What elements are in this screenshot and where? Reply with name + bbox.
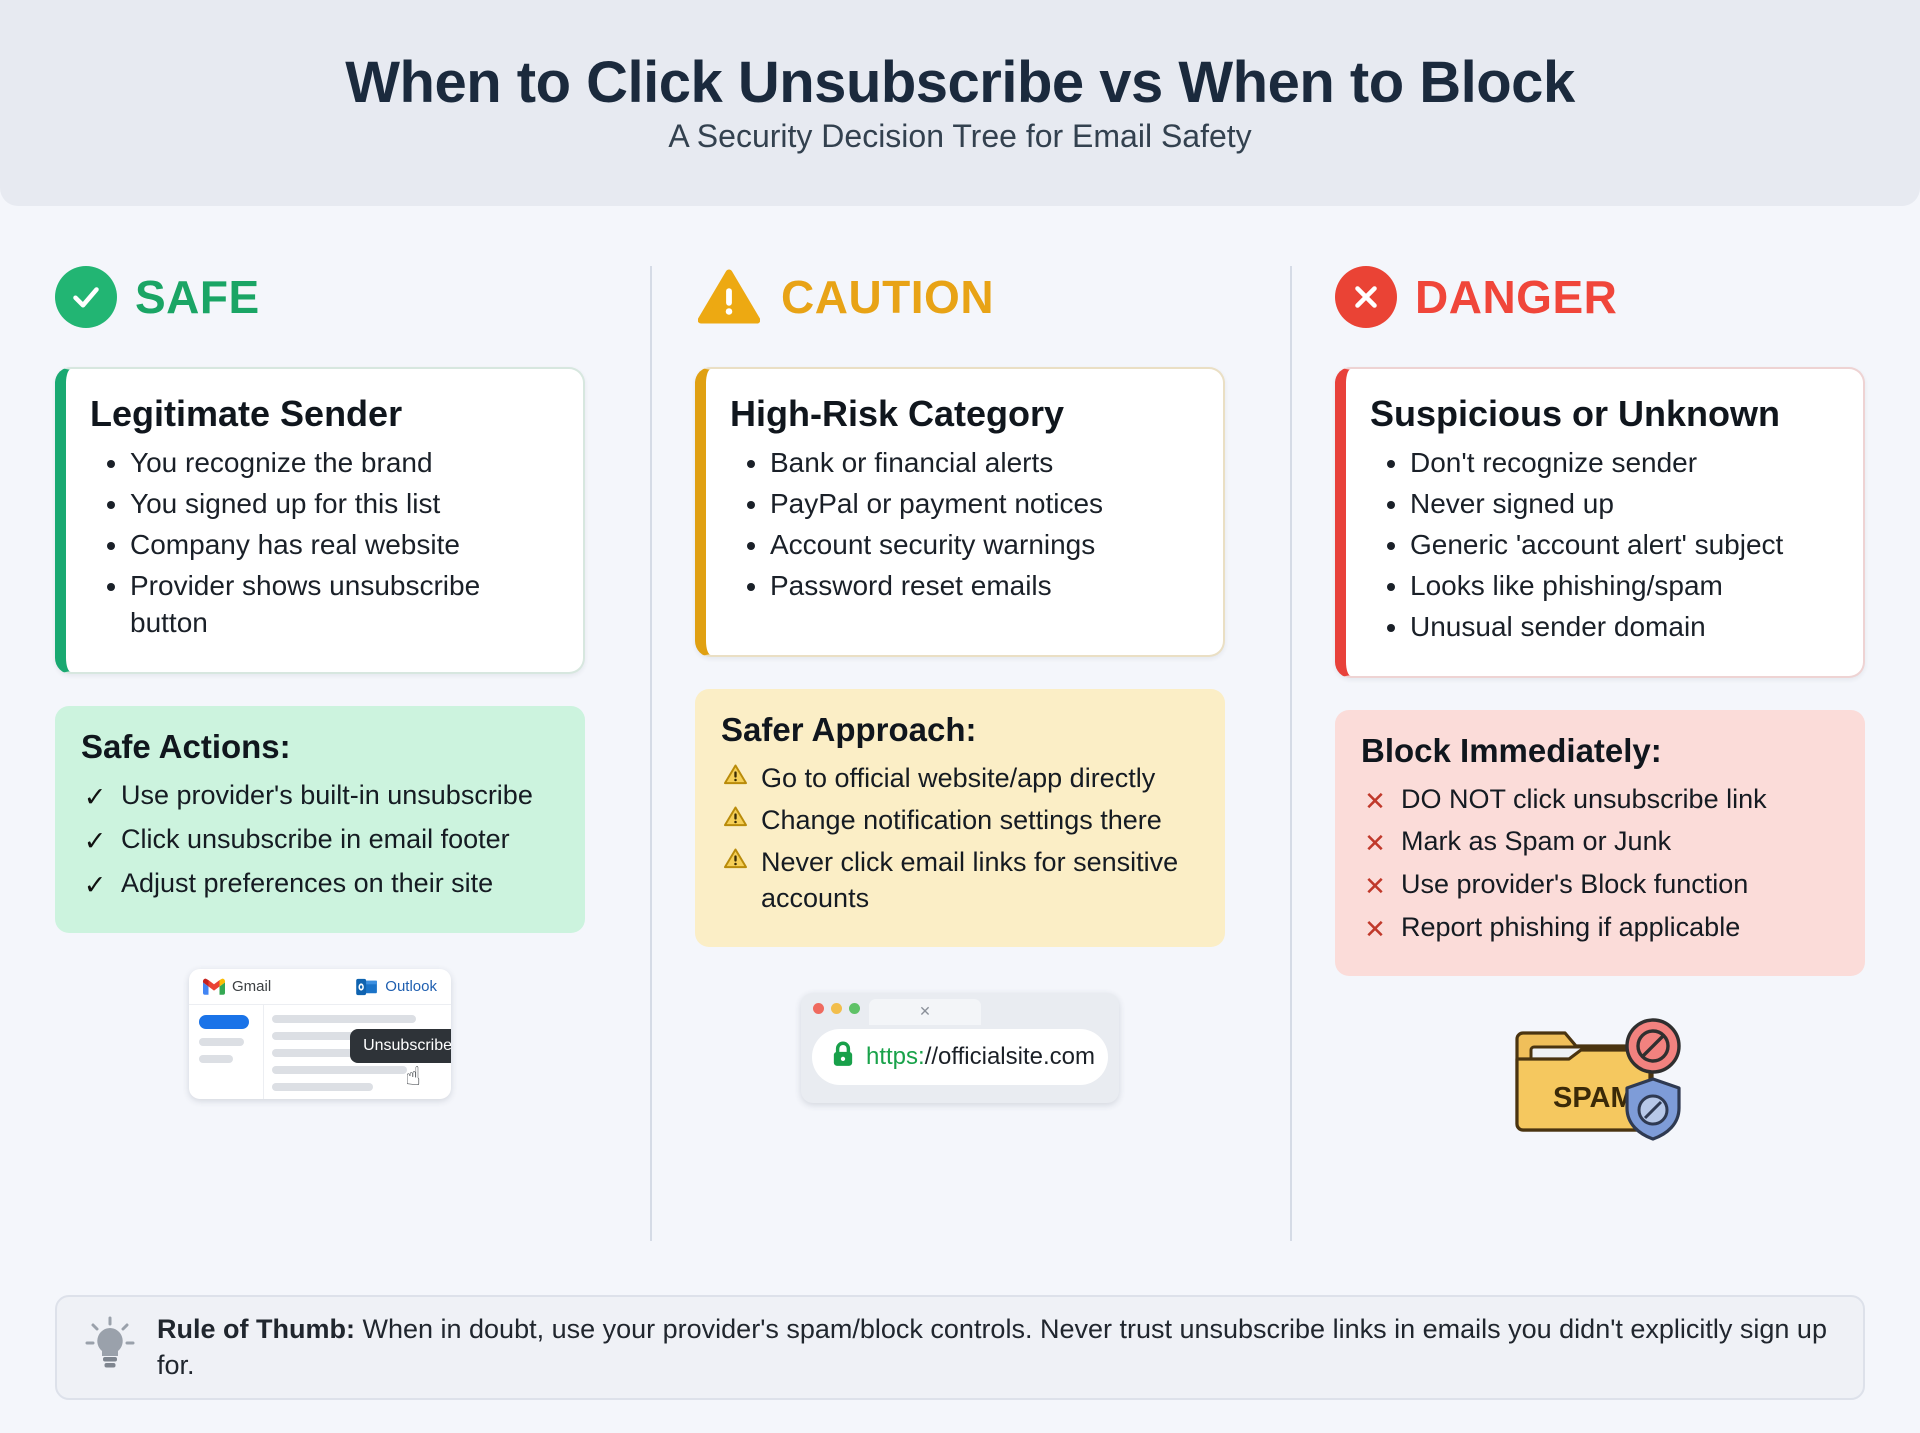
email-row-placeholder [272, 1083, 373, 1091]
outlook-brand: Outlook [356, 978, 437, 996]
illustration-danger: SPAM [1335, 1002, 1865, 1152]
unsubscribe-tooltip[interactable]: Unsubscribe [350, 1029, 451, 1063]
list-item: Password reset emails [770, 568, 1197, 605]
window-close-icon[interactable] [813, 1003, 824, 1014]
close-icon[interactable]: ✕ [919, 1003, 931, 1020]
criteria-list: Bank or financial alerts PayPal or payme… [730, 445, 1197, 605]
status-header-danger: DANGER [1335, 261, 1865, 333]
check-mark-icon: ✓ [81, 866, 109, 904]
list-item-label: Adjust preferences on their site [121, 866, 493, 902]
criteria-card-caution: High-Risk Category Bank or financial ale… [695, 367, 1225, 657]
warning-triangle-icon [721, 761, 749, 786]
warning-triangle-icon [695, 266, 763, 328]
list-item: PayPal or payment notices [770, 486, 1197, 523]
list-item: ✕ Mark as Spam or Junk [1361, 824, 1841, 861]
list-item: ✕ DO NOT click unsubscribe link [1361, 782, 1841, 819]
browser-titlebar: ✕ [801, 993, 1119, 1025]
email-client-brands: Gmail Outlook [189, 969, 451, 1005]
list-item: Looks like phishing/spam [1410, 568, 1837, 605]
list-item: ✓ Click unsubscribe in email footer [81, 822, 561, 860]
window-maximize-icon[interactable] [849, 1003, 860, 1014]
lightbulb-icon [85, 1316, 135, 1379]
column-danger: DANGER Suspicious or Unknown Don't recog… [1280, 206, 1920, 1276]
column-safe: SAFE Legitimate Sender You recognize the… [0, 206, 640, 1276]
sidebar-placeholder [199, 1055, 233, 1063]
email-row-placeholder [272, 1015, 416, 1023]
email-client-mock: Gmail Outlook [189, 969, 451, 1099]
list-item: ✕ Use provider's Block function [1361, 867, 1841, 904]
url-text: https://officialsite.com [866, 1043, 1095, 1071]
x-mark-icon: ✕ [1361, 910, 1389, 947]
list-item: ✓ Adjust preferences on their site [81, 866, 561, 904]
criteria-card-title: Legitimate Sender [90, 393, 557, 435]
outlook-icon [356, 978, 378, 996]
actions-panel-title: Safer Approach: [721, 711, 1201, 749]
rule-of-thumb-label: Rule of Thumb: [157, 1314, 355, 1344]
email-row-placeholder [272, 1066, 407, 1074]
status-header-caution: CAUTION [695, 261, 1225, 333]
rule-of-thumb-body: When in doubt, use your provider's spam/… [157, 1314, 1827, 1379]
actions-panel-title: Block Immediately: [1361, 732, 1841, 770]
illustration-caution: ✕ https://officialsite.com [695, 973, 1225, 1123]
criteria-card-title: Suspicious or Unknown [1370, 393, 1837, 435]
list-item: You recognize the brand [130, 445, 557, 482]
status-label-danger: DANGER [1415, 270, 1617, 324]
list-item: Company has real website [130, 527, 557, 564]
actions-panel-danger: Block Immediately: ✕ DO NOT click unsubs… [1335, 710, 1865, 976]
list-item: Unusual sender domain [1410, 609, 1837, 646]
list-item-label: Go to official website/app directly [761, 761, 1155, 797]
list-item: Go to official website/app directly [721, 761, 1201, 797]
url-host: //officialsite.com [925, 1043, 1095, 1070]
svg-text:SPAM: SPAM [1553, 1082, 1635, 1114]
list-item-label: Never click email links for sensitive ac… [761, 845, 1201, 917]
address-bar[interactable]: https://officialsite.com [812, 1029, 1108, 1085]
list-item: Account security warnings [770, 527, 1197, 564]
columns-container: SAFE Legitimate Sender You recognize the… [0, 206, 1920, 1276]
actions-list: ✕ DO NOT click unsubscribe link ✕ Mark a… [1361, 782, 1841, 946]
x-circle-icon [1335, 266, 1397, 328]
criteria-list: You recognize the brand You signed up fo… [90, 445, 557, 642]
criteria-card-title: High-Risk Category [730, 393, 1197, 435]
actions-panel-safe: Safe Actions: ✓ Use provider's built-in … [55, 706, 585, 934]
page-title: When to Click Unsubscribe vs When to Blo… [345, 51, 1574, 115]
list-item: Don't recognize sender [1410, 445, 1837, 482]
list-item: Never signed up [1410, 486, 1837, 523]
infographic-root: When to Click Unsubscribe vs When to Blo… [0, 0, 1920, 1433]
header: When to Click Unsubscribe vs When to Blo… [0, 0, 1920, 206]
url-scheme: https: [866, 1043, 925, 1070]
criteria-card-danger: Suspicious or Unknown Don't recognize se… [1335, 367, 1865, 678]
check-circle-icon [55, 266, 117, 328]
list-item-label: Mark as Spam or Junk [1401, 824, 1671, 860]
outlook-label: Outlook [385, 978, 437, 995]
warning-triangle-icon [721, 845, 749, 870]
x-mark-icon: ✕ [1361, 824, 1389, 861]
list-item: Never click email links for sensitive ac… [721, 845, 1201, 917]
list-item-label: Change notification settings there [761, 803, 1162, 839]
status-header-safe: SAFE [55, 261, 585, 333]
page-subtitle: A Security Decision Tree for Email Safet… [668, 118, 1251, 155]
criteria-list: Don't recognize sender Never signed up G… [1370, 445, 1837, 646]
criteria-card-safe: Legitimate Sender You recognize the bran… [55, 367, 585, 674]
actions-panel-title: Safe Actions: [81, 728, 561, 766]
column-caution: CAUTION High-Risk Category Bank or finan… [640, 206, 1280, 1276]
list-item: ✕ Report phishing if applicable [1361, 910, 1841, 947]
gmail-brand: Gmail [203, 978, 271, 995]
actions-list: ✓ Use provider's built-in unsubscribe ✓ … [81, 778, 561, 904]
rule-of-thumb-banner: Rule of Thumb: When in doubt, use your p… [55, 1295, 1865, 1400]
check-mark-icon: ✓ [81, 822, 109, 860]
spam-folder-blocked-icon: SPAM [1505, 1007, 1695, 1147]
illustration-safe: Gmail Outlook [55, 959, 585, 1109]
lock-icon [830, 1040, 856, 1073]
gmail-label: Gmail [232, 978, 271, 995]
list-item: Change notification settings there [721, 803, 1201, 839]
email-sidebar [189, 1005, 263, 1099]
list-item: You signed up for this list [130, 486, 557, 523]
actions-list: Go to official website/app directly Chan… [721, 761, 1201, 917]
browser-address-bar-mock: ✕ https://officialsite.com [801, 993, 1119, 1103]
sidebar-placeholder [199, 1038, 244, 1046]
list-item: ✓ Use provider's built-in unsubscribe [81, 778, 561, 816]
list-item-label: Use provider's built-in unsubscribe [121, 778, 533, 814]
list-item-label: Report phishing if applicable [1401, 910, 1740, 946]
x-mark-icon: ✕ [1361, 867, 1389, 904]
list-item-label: Use provider's Block function [1401, 867, 1748, 903]
warning-triangle-icon [721, 803, 749, 828]
status-label-safe: SAFE [135, 270, 260, 324]
gmail-icon [203, 978, 225, 995]
list-item-label: DO NOT click unsubscribe link [1401, 782, 1767, 818]
list-item: Provider shows unsubscribe button [130, 568, 557, 642]
actions-panel-caution: Safer Approach: Go to official website/a… [695, 689, 1225, 947]
window-minimize-icon[interactable] [831, 1003, 842, 1014]
list-item-label: Click unsubscribe in email footer [121, 822, 510, 858]
list-item: Bank or financial alerts [770, 445, 1197, 482]
check-mark-icon: ✓ [81, 778, 109, 816]
cursor-pointer-icon: ☝ [405, 1061, 421, 1092]
browser-tab[interactable]: ✕ [869, 999, 981, 1025]
x-mark-icon: ✕ [1361, 782, 1389, 819]
list-item: Generic 'account alert' subject [1410, 527, 1837, 564]
compose-button[interactable] [199, 1015, 249, 1029]
rule-of-thumb-text: Rule of Thumb: When in doubt, use your p… [157, 1312, 1835, 1382]
status-label-caution: CAUTION [781, 270, 994, 324]
